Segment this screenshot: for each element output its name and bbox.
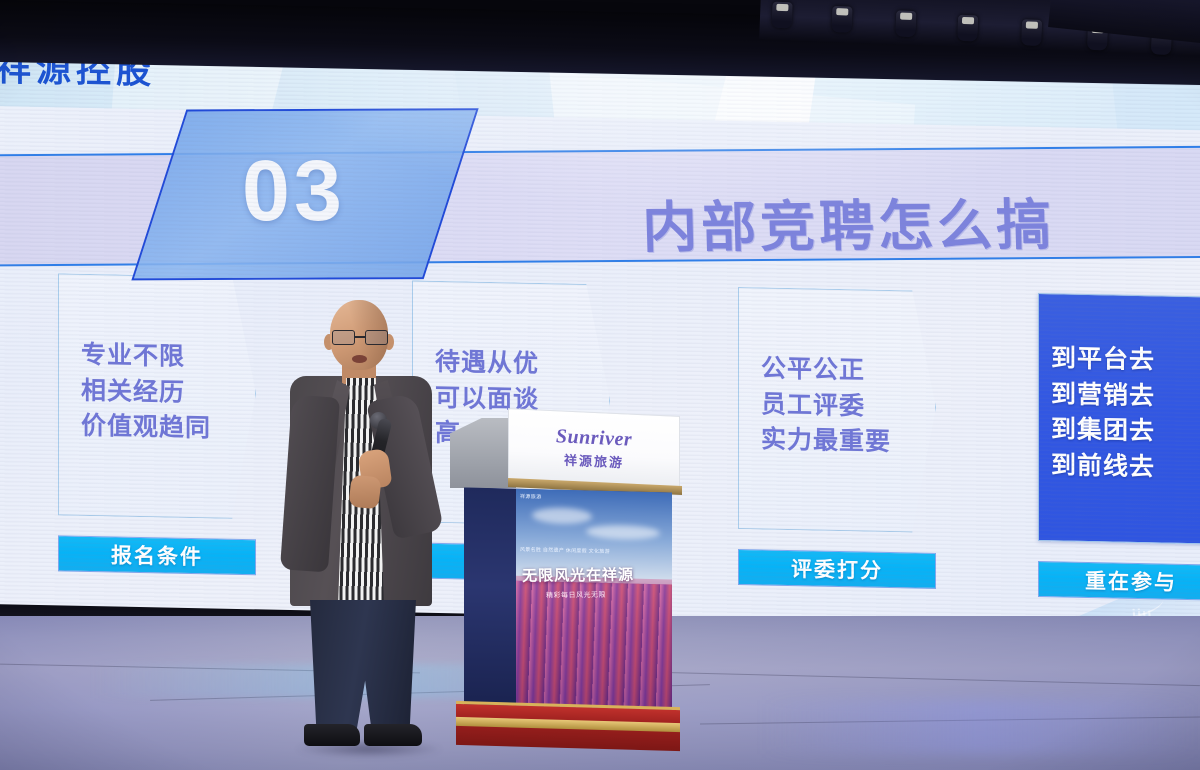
podium-top-side bbox=[450, 418, 516, 488]
speaker-mouth bbox=[352, 355, 367, 363]
glasses-bridge bbox=[355, 336, 365, 338]
card-3-line-3: 实力最重要 bbox=[761, 421, 891, 459]
card-3-lines: 公平公正 员工评委 实力最重要 bbox=[761, 350, 891, 459]
speaker-trousers bbox=[310, 600, 416, 730]
card-4-line-3: 到集团去 bbox=[1051, 411, 1155, 449]
card-2-line-1: 待遇从优 bbox=[435, 344, 539, 382]
speaker-hand-lower bbox=[348, 475, 381, 510]
card-4-lines: 到平台去 到营销去 到集团去 到前线去 bbox=[1051, 340, 1155, 484]
poster-headline: 无限风光在祥源 bbox=[522, 564, 635, 586]
podium-top: Sunriver 祥源旅游 bbox=[450, 412, 680, 488]
podium-side-panel bbox=[464, 487, 516, 706]
stage-light-icon bbox=[895, 10, 916, 37]
podium-body: 祥源旅游 风景名胜 自然遗产 休闲度假 文化旅游 无限风光在祥源 精彩每日风光无… bbox=[464, 487, 672, 710]
stage-light-icon bbox=[1021, 19, 1042, 46]
glasses-icon bbox=[332, 330, 388, 345]
content-card-4: 到平台去 到营销去 到集团去 到前线去 bbox=[1038, 293, 1200, 545]
glasses-lens bbox=[332, 330, 355, 345]
stage-light-icon bbox=[832, 6, 853, 33]
card-1-lines: 专业不限 相关经历 价值观趋同 bbox=[81, 337, 211, 446]
content-card-1: 专业不限 相关经历 价值观趋同 bbox=[58, 273, 256, 519]
card-4-label: 重在参与 bbox=[1038, 561, 1200, 601]
podium: Sunriver 祥源旅游 祥源旅游 风景名胜 自然遗产 休闲度假 文化旅游 无… bbox=[450, 412, 680, 744]
card-1-line-1: 专业不限 bbox=[81, 337, 211, 375]
stage-light-icon bbox=[772, 2, 793, 29]
card-1-line-2: 相关经历 bbox=[81, 372, 211, 410]
podium-poster: 祥源旅游 风景名胜 自然遗产 休闲度假 文化旅游 无限风光在祥源 精彩每日风光无… bbox=[516, 489, 672, 711]
card-1-label: 报名条件 bbox=[58, 535, 256, 575]
podium-base-trim bbox=[456, 717, 680, 732]
section-number: 03 bbox=[241, 142, 347, 241]
content-card-3: 公平公正 员工评委 实力最重要 bbox=[738, 287, 936, 533]
stage-light-icon bbox=[957, 15, 978, 42]
card-3-label: 评委打分 bbox=[738, 549, 936, 589]
floor-reflection bbox=[760, 700, 1200, 754]
glasses-lens bbox=[365, 330, 388, 345]
speaker-shoe bbox=[304, 724, 360, 746]
card-4-line-1: 到平台去 bbox=[1051, 340, 1155, 378]
speaker-shoe bbox=[364, 724, 422, 746]
podium-brand-panel: Sunriver 祥源旅游 bbox=[508, 408, 680, 488]
card-3-line-2: 员工评委 bbox=[761, 386, 891, 424]
card-4-line-4: 到前线去 bbox=[1051, 447, 1155, 485]
speaker bbox=[276, 300, 446, 750]
card-4-line-2: 到营销去 bbox=[1051, 376, 1155, 414]
card-3-line-1: 公平公正 bbox=[761, 350, 891, 388]
podium-brand-cn: 祥源旅游 bbox=[564, 449, 624, 471]
podium-brand-en: Sunriver bbox=[556, 425, 632, 451]
stage-photo: SUNRIVER 祥源控股 内部竞聘怎么搞 03 专业不限 相关经历 价值观趋同… bbox=[0, 0, 1200, 770]
poster-subtext: 精彩每日风光无限 bbox=[546, 590, 606, 601]
page-title: 内部竞聘怎么搞 bbox=[641, 180, 1056, 263]
card-1-line-3: 价值观趋同 bbox=[81, 408, 211, 446]
podium-base bbox=[456, 701, 680, 751]
poster-top-label: 祥源旅游 bbox=[520, 493, 542, 501]
